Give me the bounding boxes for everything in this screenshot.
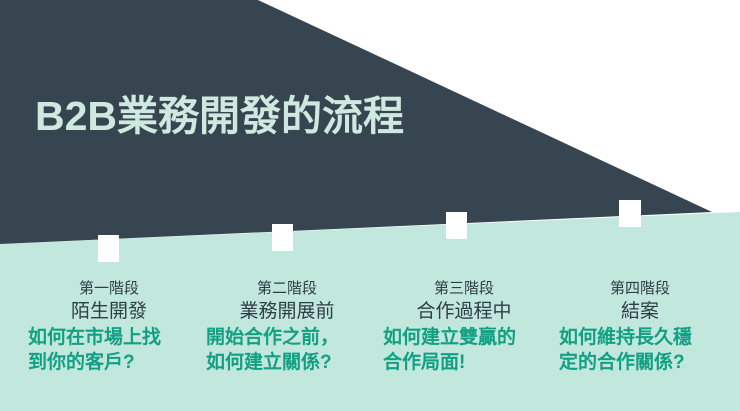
stage-column-3: 第三階段 合作過程中 如何建立雙贏的 合作局面! <box>383 278 545 375</box>
stage-description-line: 到你的客戶? <box>28 350 190 375</box>
stage-description-line: 開始合作之前， <box>206 325 368 350</box>
stage-column-4: 第四階段 結案 如何維持長久穩 定的合作關係? <box>559 278 721 375</box>
stage-name-label: 陌生開發 <box>28 299 190 324</box>
stage-description-line: 合作局面! <box>383 350 545 375</box>
stage-number-label: 第三階段 <box>383 278 545 299</box>
stage-marker-1 <box>98 235 119 262</box>
stage-description-line: 定的合作關係? <box>559 350 721 375</box>
stage-number-label: 第四階段 <box>559 278 721 299</box>
stage-description-line: 如何建立關係? <box>206 350 368 375</box>
stage-description: 如何建立雙贏的 合作局面! <box>383 325 545 375</box>
stage-name-label: 業務開展前 <box>206 299 368 324</box>
stage-number-label: 第二階段 <box>206 278 368 299</box>
stage-column-2: 第二階段 業務開展前 開始合作之前， 如何建立關係? <box>206 278 368 375</box>
stage-number-label: 第一階段 <box>28 278 190 299</box>
stage-description: 如何在市場上找 到你的客戶? <box>28 325 190 375</box>
stage-description: 如何維持長久穩 定的合作關係? <box>559 325 721 375</box>
slide-canvas: B2B業務開發的流程 第一階段 陌生開發 如何在市場上找 到你的客戶? 第二階段… <box>0 0 740 411</box>
stage-name-label: 結案 <box>559 299 721 324</box>
stage-marker-2 <box>272 224 293 251</box>
page-title: B2B業務開發的流程 <box>35 96 404 137</box>
stage-description: 開始合作之前， 如何建立關係? <box>206 325 368 375</box>
stage-description-line: 如何維持長久穩 <box>559 325 721 350</box>
stage-column-1: 第一階段 陌生開發 如何在市場上找 到你的客戶? <box>28 278 190 375</box>
stage-marker-3 <box>446 212 467 239</box>
stage-name-label: 合作過程中 <box>383 299 545 324</box>
stage-marker-4 <box>619 200 641 227</box>
stage-description-line: 如何建立雙贏的 <box>383 325 545 350</box>
stage-description-line: 如何在市場上找 <box>28 325 190 350</box>
